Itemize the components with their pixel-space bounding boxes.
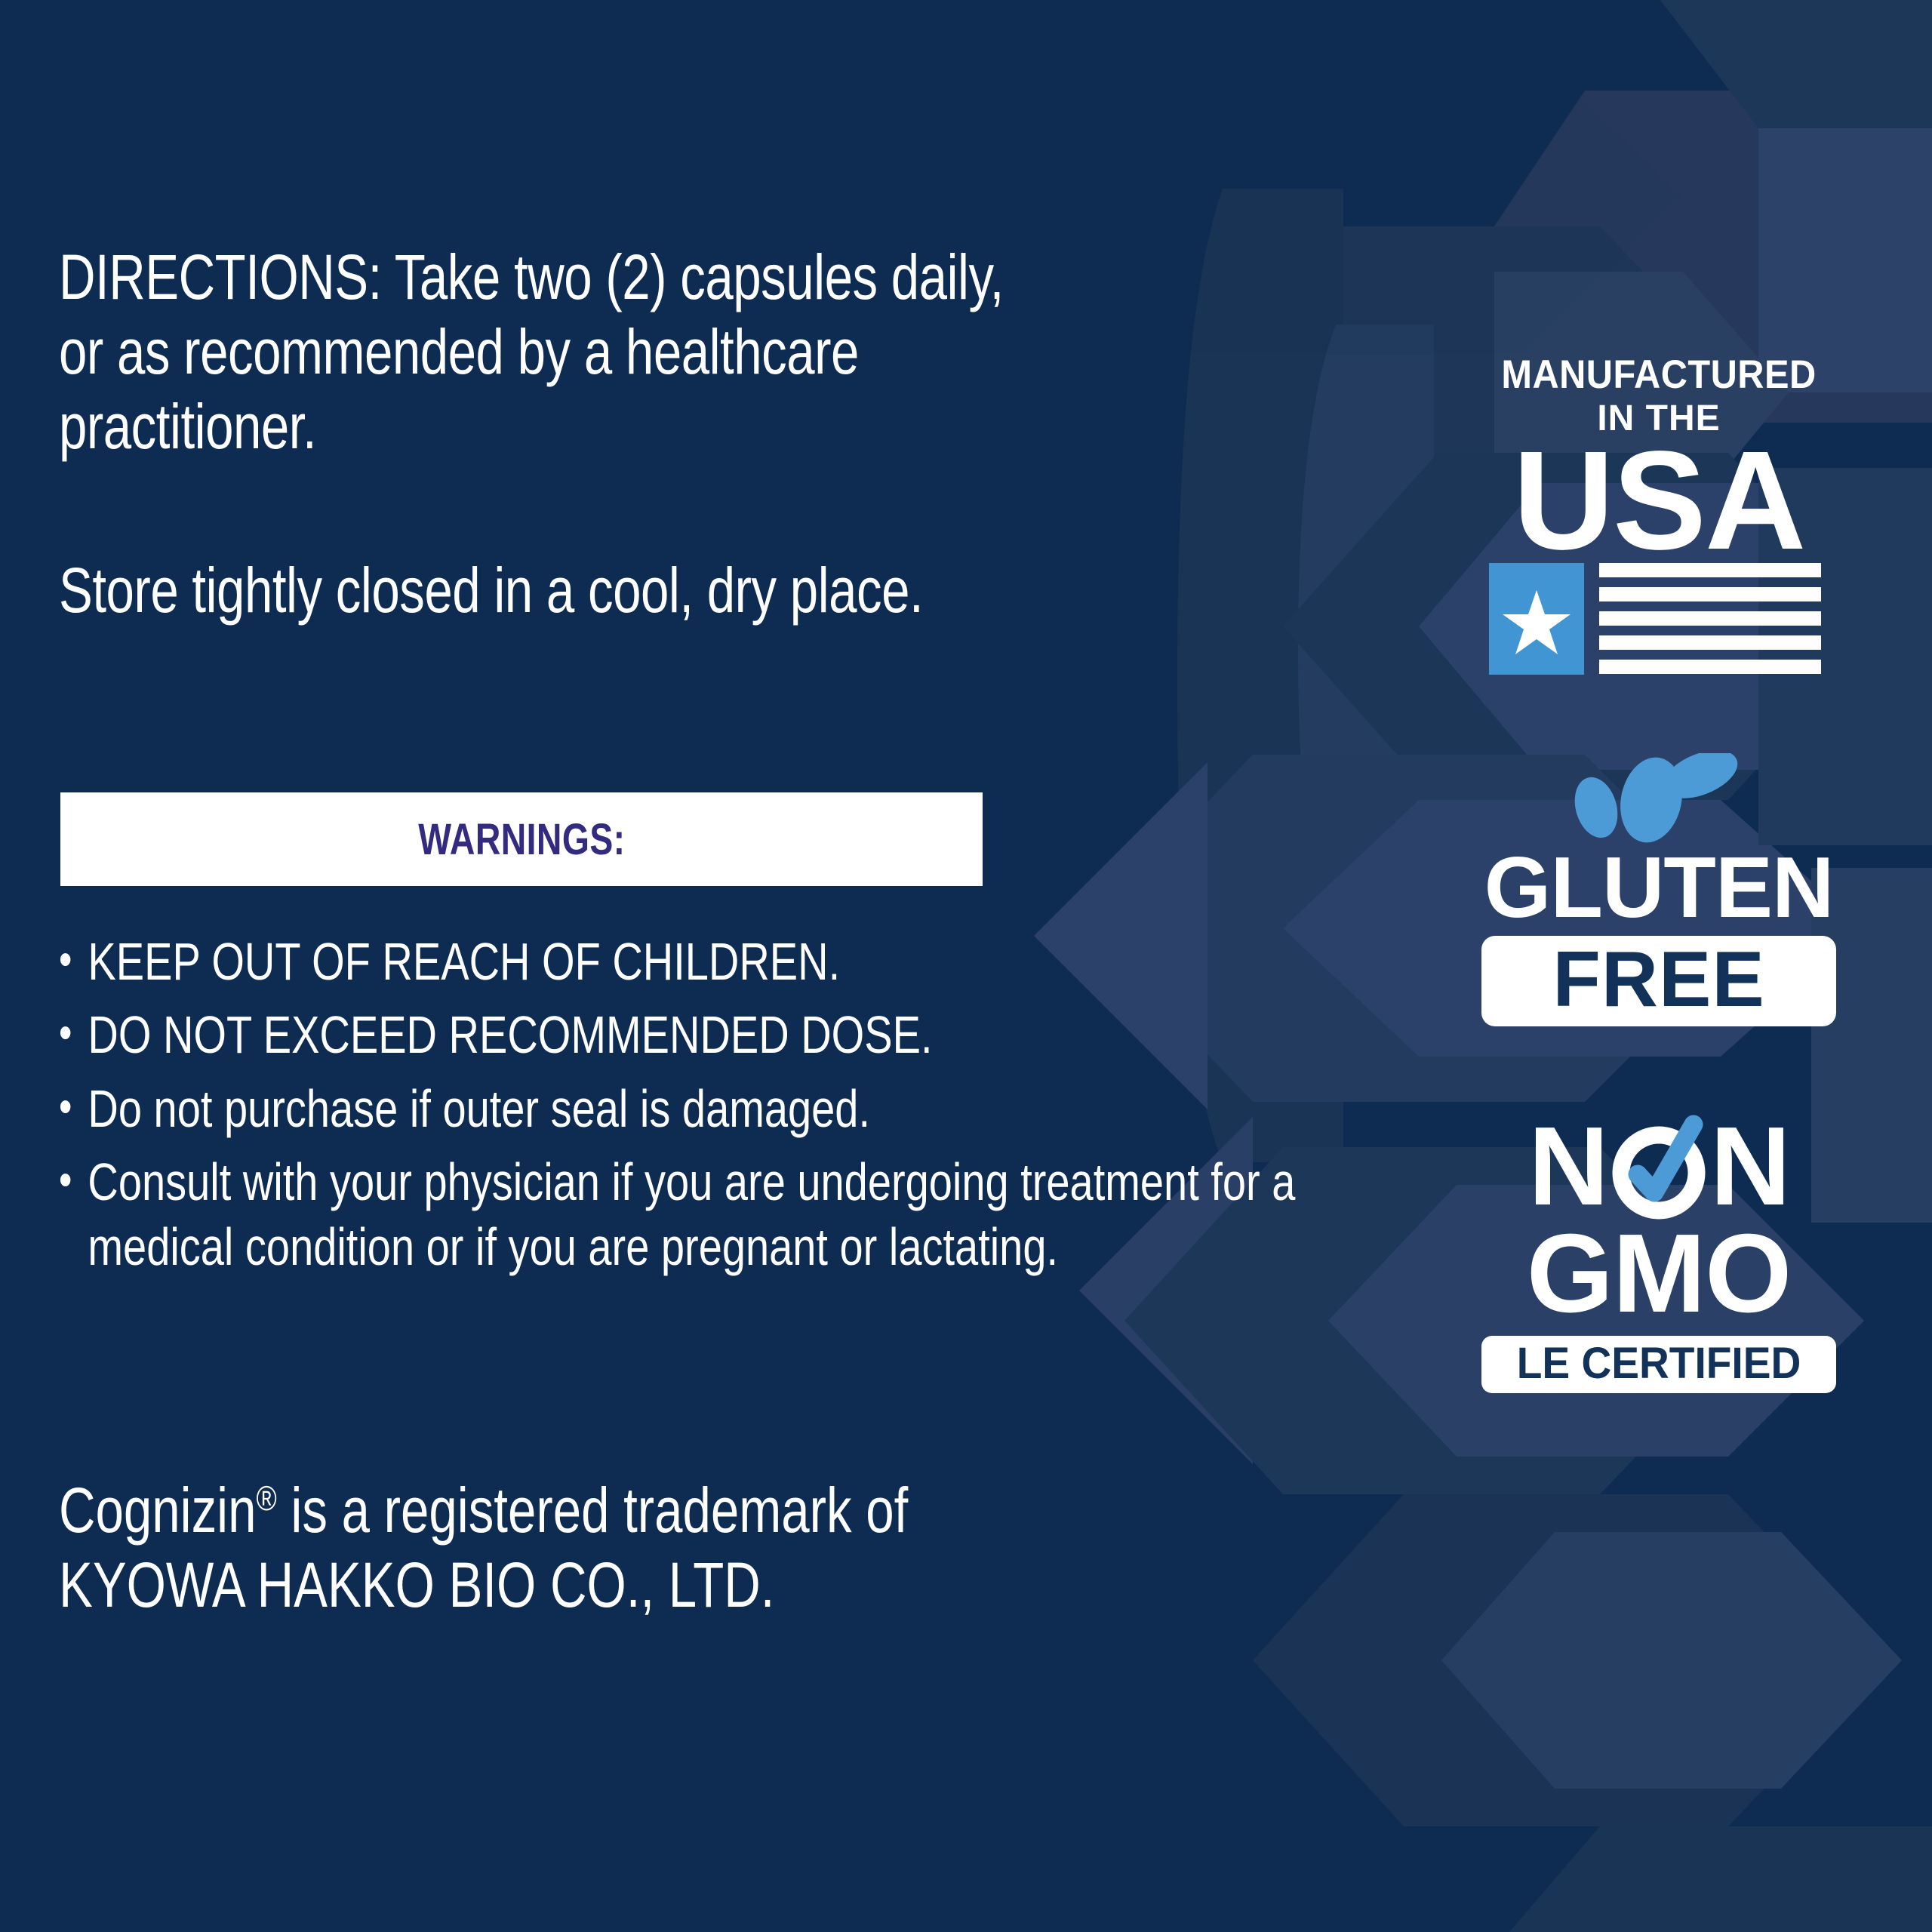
badge-non-gmo: N N GMO LE CERTIFIED [1481,1111,1836,1393]
supplement-label-panel: DIRECTIONS: Take two (2) capsules daily,… [0,0,1932,1932]
free-word: FREE [1481,940,1836,1019]
trademark-brand: Cognizin [59,1475,256,1546]
trademark-line-2: KYOWA HAKKO BIO CO., LTD. [59,1548,1357,1623]
trademark-line-1-rest: is a registered trademark of [277,1475,909,1546]
warnings-header-bar: WARNINGS: [60,792,983,886]
warning-item: DO NOT EXCEED RECOMMENDED DOSE. [59,1003,1410,1067]
registered-mark-icon: ® [256,1478,276,1518]
wheat-grain-leaves-icon [1481,753,1836,844]
le-certified-text: LE CERTIFIED [1491,1342,1828,1386]
label-text-column: DIRECTIONS: Take two (2) capsules daily,… [59,240,1357,628]
non-letter-n-second: N [1710,1111,1789,1223]
gluten-word: GLUTEN [1481,845,1836,931]
usa-badge-line-1: MANUFACTURED [1496,355,1822,395]
usa-badge-word: USA [1481,441,1836,561]
storage-block: Store tightly closed in a cool, dry plac… [59,553,1357,628]
warnings-list: KEEP OUT OF REACH OF CHILDREN. DO NOT EX… [59,930,1387,1288]
checkmark-circle-icon [1607,1114,1710,1220]
trademark-block: Cognizin® is a registered trademark of K… [59,1473,1387,1623]
directions-line-1: DIRECTIONS: Take two (2) capsules daily, [59,240,1357,315]
certification-badges: MANUFACTURED IN THE USA [1455,355,1863,1393]
gmo-word: GMO [1481,1218,1836,1330]
le-certified-plate: LE CERTIFIED [1481,1336,1836,1393]
free-plate: FREE [1481,936,1836,1026]
badge-manufactured-in-usa: MANUFACTURED IN THE USA [1481,355,1836,675]
non-row: N N [1481,1111,1836,1223]
non-letter-n-first: N [1528,1111,1607,1223]
directions-line-3: practitioner. [59,389,1357,464]
storage-text: Store tightly closed in a cool, dry plac… [59,553,1357,628]
warning-item: Consult with your physician if you are u… [59,1150,1410,1279]
warnings-title: WARNINGS: [418,814,625,865]
warning-item: Do not purchase if outer seal is damaged… [59,1077,1410,1141]
warning-item: KEEP OUT OF REACH OF CHILDREN. [59,930,1410,994]
trademark-line-1: Cognizin® is a registered trademark of [59,1473,1357,1548]
badge-gluten-free: GLUTEN FREE [1481,753,1836,1026]
us-flag-icon [1481,563,1836,675]
directions-line-2: or as recommended by a healthcare [59,315,1357,389]
directions-block: DIRECTIONS: Take two (2) capsules daily,… [59,240,1357,464]
